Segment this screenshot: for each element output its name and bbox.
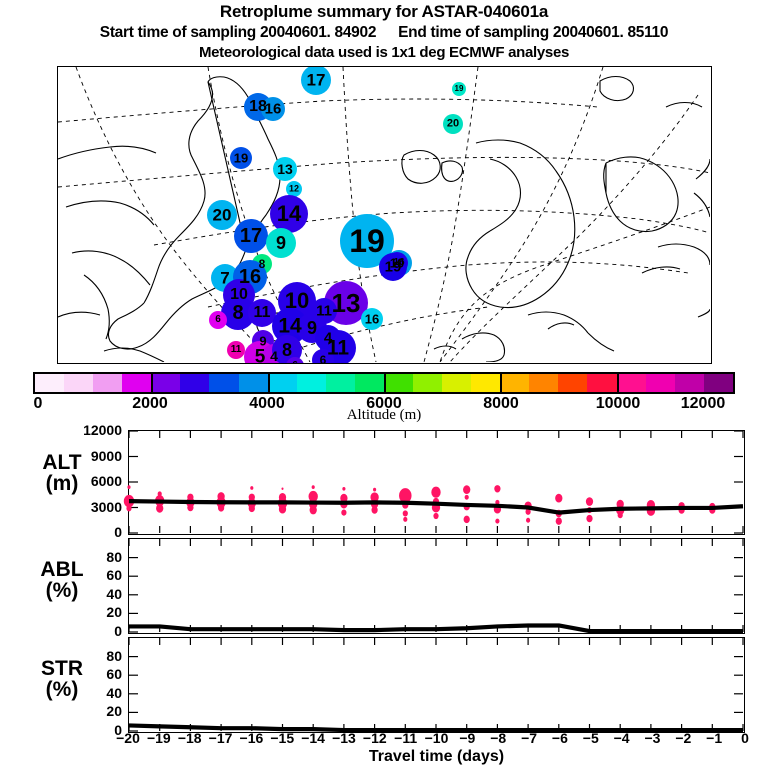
plume-marker-label: 11 bbox=[327, 338, 349, 359]
plume-marker-label: 19 bbox=[385, 260, 402, 275]
plume-marker-label: 7 bbox=[220, 270, 229, 287]
alt-scatter-point bbox=[403, 517, 407, 522]
alt-scatter-point bbox=[249, 505, 255, 512]
figure-root: Retroplume summary for ASTAR-040601a Sta… bbox=[0, 0, 768, 768]
colorbar-divider bbox=[500, 374, 502, 392]
alt-scatter-point bbox=[586, 497, 593, 506]
x-tick-label: −17 bbox=[209, 730, 233, 746]
x-tick-label: −19 bbox=[147, 730, 171, 746]
plume-marker-label: 17 bbox=[240, 226, 262, 246]
y-tick-label: 60 bbox=[106, 567, 122, 583]
colorbar-swatch bbox=[297, 374, 326, 392]
x-tick-label: −18 bbox=[178, 730, 202, 746]
x-tick-label: −20 bbox=[116, 730, 140, 746]
plume-marker-label: 9 bbox=[276, 234, 286, 252]
colorbar-divider bbox=[151, 374, 153, 392]
alt-scatter-point bbox=[618, 512, 623, 518]
alt-scatter-point bbox=[342, 487, 345, 491]
x-tick-label: −14 bbox=[301, 730, 325, 746]
y-tick-label: 80 bbox=[106, 549, 122, 565]
colorbar-swatch bbox=[413, 374, 442, 392]
plume-marker-label: 16 bbox=[239, 267, 261, 287]
end-time-label: End time of sampling 20040601. 85110 bbox=[398, 24, 668, 41]
y-tick-label: 40 bbox=[106, 586, 122, 602]
plume-marker-label: 9 bbox=[307, 319, 317, 337]
colorbar-divider bbox=[617, 374, 619, 392]
colorbar-swatch bbox=[122, 374, 151, 392]
plume-marker-label: 6 bbox=[320, 354, 327, 364]
x-tick-label: −16 bbox=[240, 730, 264, 746]
colorbar-swatch bbox=[471, 374, 500, 392]
page-title: Retroplume summary for ASTAR-040601a bbox=[0, 2, 768, 22]
str-ytick-labels: 020406080 bbox=[64, 637, 122, 733]
plume-marker-label: 11 bbox=[316, 304, 332, 319]
y-tick-label: 20 bbox=[106, 604, 122, 620]
x-tick-label: −11 bbox=[394, 730, 417, 746]
alt-scatter-point bbox=[403, 510, 408, 516]
colorbar-swatch bbox=[35, 374, 64, 392]
alt-scatter-point bbox=[126, 505, 131, 511]
alt-scatter-point bbox=[463, 485, 470, 494]
plume-marker-label: 4 bbox=[270, 349, 278, 363]
plume-marker-label: 13 bbox=[332, 290, 361, 316]
abl-panel bbox=[128, 538, 745, 634]
x-tick-label: −3 bbox=[644, 730, 660, 746]
x-tick-label: −9 bbox=[459, 730, 475, 746]
alt-scatter-point bbox=[465, 495, 469, 500]
colorbar-divider bbox=[268, 374, 270, 392]
alt-scatter-point bbox=[312, 485, 315, 489]
x-tick-label: −12 bbox=[363, 730, 387, 746]
alt-scatter-point bbox=[526, 518, 530, 523]
colorbar-swatch bbox=[617, 374, 646, 392]
plume-marker-label: 11 bbox=[231, 345, 242, 355]
colorbar-swatch bbox=[529, 374, 558, 392]
x-tick-label: −4 bbox=[614, 730, 630, 746]
y-tick-label: 9000 bbox=[91, 448, 122, 464]
xaxis-title: Travel time (days) bbox=[128, 748, 745, 766]
colorbar-swatch bbox=[355, 374, 384, 392]
colorbar-swatch bbox=[587, 374, 616, 392]
y-tick-label: 3000 bbox=[91, 499, 122, 515]
alt-scatter-point bbox=[373, 488, 376, 492]
colorbar-swatch bbox=[64, 374, 93, 392]
plume-marker-label: 6 bbox=[292, 361, 298, 364]
plume-marker-label: 5 bbox=[255, 348, 266, 365]
title-block: Retroplume summary for ASTAR-040601a Sta… bbox=[0, 0, 768, 61]
alt-scatter-point bbox=[494, 485, 500, 492]
str-plot-area bbox=[129, 638, 743, 731]
plume-marker-label: 8 bbox=[232, 303, 243, 323]
x-tick-label: −13 bbox=[332, 730, 356, 746]
x-tick-label: −10 bbox=[425, 730, 449, 746]
colorbar-swatch bbox=[268, 374, 297, 392]
x-tick-label: 0 bbox=[741, 730, 749, 746]
colorbar-swatch bbox=[151, 374, 180, 392]
plume-marker-layer: 1719201816191312201417981916107161081161… bbox=[58, 67, 711, 363]
alt-scatter-point bbox=[218, 504, 224, 511]
x-tick-label: −1 bbox=[706, 730, 722, 746]
plume-marker-label: 13 bbox=[277, 162, 293, 176]
plume-marker-label: 14 bbox=[278, 316, 301, 337]
y-tick-label: 60 bbox=[106, 666, 122, 682]
x-tick-label: −7 bbox=[521, 730, 537, 746]
y-tick-label: 20 bbox=[106, 703, 122, 719]
colorbar-swatch bbox=[384, 374, 413, 392]
colorbar-divider bbox=[384, 374, 386, 392]
x-tick-label: −2 bbox=[675, 730, 691, 746]
abl-ytick-labels: 020406080 bbox=[64, 538, 122, 634]
alt-scatter-point bbox=[495, 519, 499, 524]
colorbar-swatch bbox=[675, 374, 704, 392]
altitude-colorbar bbox=[33, 372, 735, 394]
alt-plot-area bbox=[129, 431, 743, 533]
abl-plot-area bbox=[129, 539, 743, 632]
y-tick-label: 40 bbox=[106, 685, 122, 701]
plume-marker-label: 12 bbox=[289, 185, 299, 194]
x-tick-label: −8 bbox=[490, 730, 506, 746]
x-tick-label: −15 bbox=[270, 730, 294, 746]
plume-marker-label: 11 bbox=[254, 305, 271, 321]
colorbar-swatch bbox=[558, 374, 587, 392]
plume-marker-label: 10 bbox=[230, 287, 248, 303]
alt-scatter-point bbox=[433, 513, 438, 519]
alt-scatter-point bbox=[187, 504, 193, 511]
alt-scatter-point bbox=[586, 515, 592, 522]
colorbar-swatch bbox=[326, 374, 355, 392]
alt-scatter-point bbox=[464, 516, 470, 523]
y-tick-label: 12000 bbox=[83, 422, 122, 438]
y-tick-label: 6000 bbox=[91, 473, 122, 489]
plume-marker-label: 16 bbox=[365, 313, 379, 326]
plume-marker-label: 16 bbox=[265, 102, 282, 117]
str-panel bbox=[128, 637, 745, 733]
alt-scatter-point bbox=[156, 504, 163, 513]
x-tick-label: −5 bbox=[583, 730, 599, 746]
plume-marker-label: 20 bbox=[213, 207, 232, 224]
colorbar-swatch bbox=[239, 374, 268, 392]
plume-marker-label: 19 bbox=[349, 225, 385, 257]
colorbar-swatch bbox=[500, 374, 529, 392]
colorbar-swatch bbox=[442, 374, 471, 392]
plume-marker-label: 19 bbox=[455, 85, 464, 93]
alt-scatter-point bbox=[555, 494, 562, 503]
y-tick-label: 80 bbox=[106, 648, 122, 664]
alt-scatter-point bbox=[127, 485, 130, 489]
sampling-times: Start time of sampling 20040601. 84902En… bbox=[0, 24, 768, 42]
plume-marker-label: 17 bbox=[307, 72, 326, 89]
colorbar-swatch bbox=[646, 374, 675, 392]
alt-scatter-point bbox=[279, 505, 286, 514]
alt-panel bbox=[128, 430, 745, 535]
retroplume-map: 1719201816191312201417981916107161081161… bbox=[57, 66, 712, 364]
alt-scatter-point bbox=[281, 488, 283, 490]
plume-marker-label: 19 bbox=[234, 152, 248, 165]
colorbar-swatch bbox=[93, 374, 122, 392]
alt-scatter-point bbox=[310, 506, 317, 515]
colorbar-swatch bbox=[180, 374, 209, 392]
plume-marker-label: 6 bbox=[215, 315, 221, 325]
start-time-label: Start time of sampling 20040601. 84902 bbox=[100, 24, 376, 41]
met-data-label: Meteorological data used is 1x1 deg ECMW… bbox=[0, 44, 768, 61]
plume-marker-label: 14 bbox=[277, 203, 301, 225]
x-tick-label: −6 bbox=[552, 730, 568, 746]
alt-scatter-point bbox=[341, 510, 346, 516]
alt-scatter-point bbox=[431, 487, 440, 498]
alt-ytick-labels: 030006000900012000 bbox=[64, 430, 122, 535]
plume-marker-label: 20 bbox=[447, 119, 459, 130]
plume-marker-label: 10 bbox=[285, 290, 309, 312]
colorbar-swatch bbox=[704, 374, 733, 392]
alt-scatter-point bbox=[556, 517, 562, 524]
alt-scatter-point bbox=[371, 506, 377, 513]
colorbar-swatch bbox=[209, 374, 238, 392]
plume-marker-label: 8 bbox=[282, 341, 292, 359]
alt-scatter-point bbox=[250, 486, 253, 490]
